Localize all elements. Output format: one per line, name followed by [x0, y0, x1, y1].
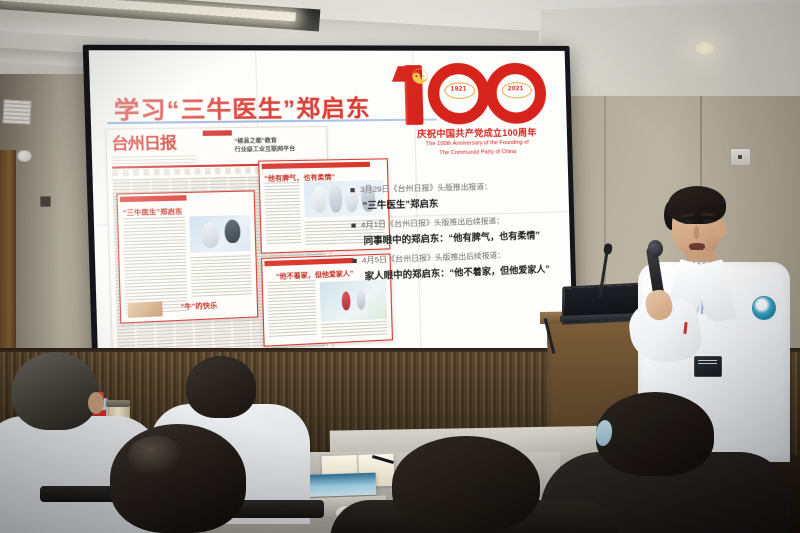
speaker-eye-left: [682, 220, 693, 224]
newspaper-ad-line2: 行业级工业互联网平台: [234, 146, 295, 154]
speaker-id-badge: [694, 356, 722, 377]
bullet-square-icon: [350, 188, 354, 192]
bullet-2-lead: 4月1日《台州日报》头版推出后续报道：: [361, 215, 504, 231]
newspaper-ad-line1: “椒县之都”教育: [234, 138, 277, 146]
logo-year-right: 2021: [499, 85, 533, 92]
smoke-detector: [17, 150, 32, 162]
recessed-downlight: [694, 40, 716, 56]
wall-outlet-plate-left: [40, 196, 51, 207]
bullet-square-icon: [351, 223, 355, 227]
air-vent: [2, 99, 31, 124]
bullet-item: 4月5日《台州日报》头版推出后续报道： 家人眼中的郑启东：“他不着家，但他爱家人…: [352, 247, 561, 283]
slide-surface: 学习“三牛医生”郑启东 ☯ 1921 2021 庆祝中国共产党成立100周年 T…: [89, 50, 574, 398]
bullet-3-main: 家人眼中的郑启东：“他不着家，但他爱家人”: [364, 263, 560, 284]
attendee-center-hair-highlight: [128, 436, 184, 476]
sleeve-logo-icon: [752, 296, 776, 320]
logo-year-left: 1921: [441, 85, 476, 92]
speaker-hair: [668, 186, 726, 224]
logo-caption-en-2: The Communist Party of China: [400, 148, 553, 157]
cpc-centenary-logo: ☯ 1921 2021 庆祝中国共产党成立100周年 The 100th Ann…: [398, 61, 554, 168]
speaker-nose: [694, 226, 699, 239]
clipping-1-headline: “三牛医生”郑启东: [123, 205, 183, 217]
photo-scene: 学习“三牛医生”郑启东 ☯ 1921 2021 庆祝中国共产党成立100周年 T…: [0, 0, 800, 533]
bullet-1-main: “三牛医生”郑启东: [362, 194, 559, 212]
logo-caption-cn: 庆祝中国共产党成立100周年: [400, 125, 554, 140]
tea-cup-lid: [106, 400, 130, 407]
attendee-second-row-head: [186, 356, 256, 418]
logo-caption-en-1: The 100th Anniversary of the Founding of: [400, 139, 553, 147]
hammer-and-sickle-icon: ☯: [410, 67, 438, 94]
bullet-item: 3月29日《台州日报》头版推出报道： “三牛医生”郑启东: [350, 179, 559, 213]
attendee-front-left-head: [12, 352, 98, 430]
attendee-far-right-head: [596, 392, 714, 476]
newspaper-clipping-1: “三牛医生”郑启东 “牛”的快乐: [116, 190, 258, 323]
speaker-ear: [716, 222, 727, 238]
speaker-eye-right: [703, 219, 714, 223]
bullet-3-lead: 4月5日《台州日报》头版推出后续报道：: [362, 249, 505, 265]
bullet-item: 4月1日《台州日报》头版推出后续报道： 同事眼中的郑启东：“他有脾气，也有柔情”: [351, 213, 560, 248]
newspaper-masthead: 台州日报: [111, 132, 197, 157]
attendee-foreground-right-head: [392, 436, 540, 533]
attendee-front-left-ear: [88, 392, 104, 414]
clipping-3-headline: “他不着家，但他爱家人”: [276, 267, 354, 280]
logo-numeral-100: ☯ 1921 2021: [398, 61, 553, 129]
wall-outlet-plate-right: [730, 148, 751, 166]
bullet-1-lead: 3月29日《台州日报》头版推出报道：: [360, 181, 492, 195]
clipping-1-sub: “牛”的快乐: [180, 299, 217, 311]
bullet-square-icon: [352, 258, 356, 262]
slide-bullet-list: 3月29日《台州日报》头版推出报道： “三牛医生”郑启东 4月1日《台州日报》头…: [350, 179, 561, 290]
attendee-center-foreground-head: [110, 424, 246, 533]
bullet-2-main: 同事眼中的郑启东：“他有脾气，也有柔情”: [363, 228, 560, 248]
